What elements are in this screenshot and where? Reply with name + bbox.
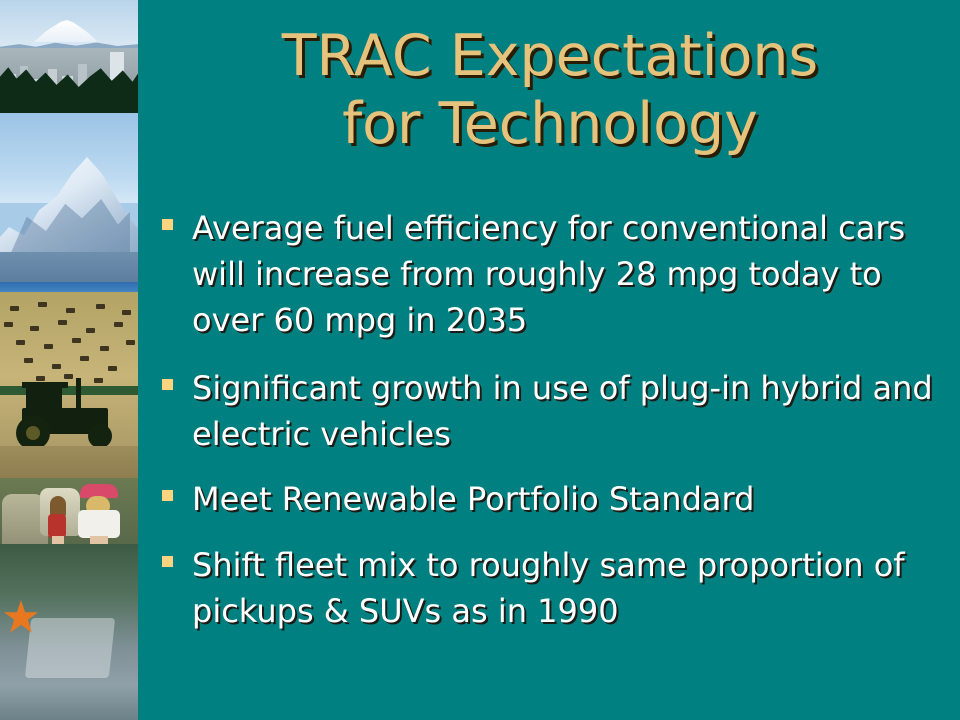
hay-bale: [58, 320, 67, 325]
hay-bale: [52, 364, 61, 369]
child-shirt: [78, 510, 120, 538]
square-bullet-icon: [162, 490, 173, 501]
child-shirt: [48, 514, 66, 538]
tractor-wheel-hub: [26, 426, 40, 440]
hay-bale: [96, 304, 105, 309]
water-reflection: [25, 618, 115, 678]
list-item: Meet Renewable Portfolio Standard: [162, 476, 940, 522]
foreground-ground: [0, 446, 138, 478]
tractor-silhouette: [14, 378, 122, 450]
list-item: Average fuel efficiency for conventional…: [162, 205, 940, 343]
hay-field-with-tractor-photo: [0, 282, 138, 478]
hay-bale: [100, 346, 109, 351]
children-at-tide-pool-photo: [0, 478, 138, 720]
hay-bale: [86, 328, 95, 333]
hay-bale: [66, 308, 75, 313]
hay-bale: [126, 340, 135, 345]
child-figure: [44, 490, 74, 548]
list-item-text: Shift fleet mix to roughly same proporti…: [192, 542, 940, 634]
list-item-text: Average fuel efficiency for conventional…: [192, 205, 940, 343]
hay-bale: [108, 366, 117, 371]
hay-bale: [80, 356, 89, 361]
hay-bale: [114, 322, 123, 327]
presentation-slide: TRAC Expectations for Technology Average…: [0, 0, 960, 720]
city-skyline-with-mountain-photo: [0, 0, 138, 113]
mountain-base: [0, 252, 138, 282]
photo-strip: [0, 0, 138, 720]
hay-bale: [24, 358, 33, 363]
square-bullet-icon: [162, 556, 173, 567]
hay-bale: [72, 338, 81, 343]
square-bullet-icon: [162, 379, 173, 390]
list-item-text: Meet Renewable Portfolio Standard: [192, 476, 940, 522]
snow-capped-mountain-photo: [0, 113, 138, 282]
hay-bale: [10, 306, 19, 311]
slide-title: TRAC Expectations for Technology: [150, 22, 950, 158]
hay-bale: [30, 326, 39, 331]
tractor-exhaust-stack: [76, 378, 81, 412]
bullet-list: Average fuel efficiency for conventional…: [162, 205, 940, 634]
list-item: Shift fleet mix to roughly same proporti…: [162, 542, 940, 634]
hay-bale: [122, 310, 131, 315]
list-item: Significant growth in use of plug-in hyb…: [162, 365, 940, 457]
hay-bale: [16, 340, 25, 345]
tractor-front-wheel: [88, 424, 112, 448]
hay-bale: [44, 344, 53, 349]
hay-bale: [38, 302, 47, 307]
square-bullet-icon: [162, 219, 173, 230]
hay-bale: [4, 322, 13, 327]
list-item-text: Significant growth in use of plug-in hyb…: [192, 365, 940, 457]
